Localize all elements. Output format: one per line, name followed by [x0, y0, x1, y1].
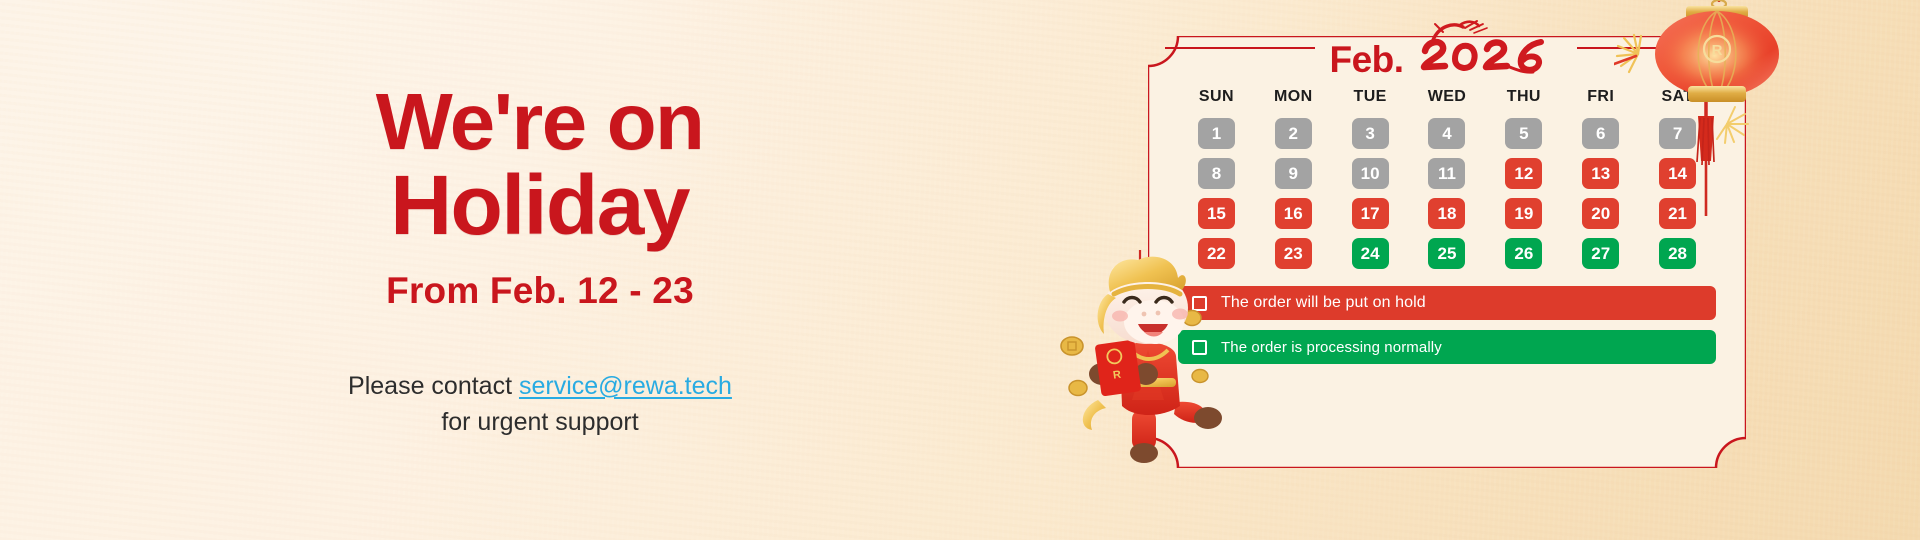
weekday-fri: FRI — [1562, 88, 1639, 106]
calendar-day-11: 11 — [1428, 158, 1465, 189]
calendar-legend: The order will be put on holdThe order i… — [1178, 286, 1716, 374]
legend-item-green: The order is processing normally — [1178, 330, 1716, 364]
calendar-day-27: 27 — [1582, 238, 1619, 269]
calendar-title: Feb. — [1329, 18, 1562, 78]
calendar-day-28: 28 — [1659, 238, 1696, 269]
contact-suffix: for urgent support — [441, 408, 638, 436]
calendar-day-16: 16 — [1275, 198, 1312, 229]
contact-note: Please contact service@rewa.tech for urg… — [348, 368, 732, 441]
calendar-day-7: 7 — [1659, 118, 1696, 149]
calendar-day-3: 3 — [1352, 118, 1389, 149]
calendar-day-6: 6 — [1582, 118, 1619, 149]
legend-label: The order is processing normally — [1221, 339, 1442, 356]
weekday-sat: SAT — [1639, 88, 1716, 106]
calendar-day-12: 12 — [1505, 158, 1542, 189]
weekday-tue: TUE — [1332, 88, 1409, 106]
calendar-day-5: 5 — [1505, 118, 1542, 149]
headline-line-1: We're on — [376, 84, 704, 160]
headline-line-2: Holiday — [376, 166, 704, 246]
title-rule-right — [1577, 47, 1727, 49]
calendar-day-2: 2 — [1275, 118, 1312, 149]
weekday-thu: THU — [1485, 88, 1562, 106]
weekday-wed: WED — [1409, 88, 1486, 106]
calendar-day-20: 20 — [1582, 198, 1619, 229]
calendar-day-9: 9 — [1275, 158, 1312, 189]
calendar-day-21: 21 — [1659, 198, 1696, 229]
calendar-day-10: 10 — [1352, 158, 1389, 189]
calendar-day-15: 15 — [1198, 198, 1235, 229]
red-envelope: R — [1095, 339, 1142, 396]
calendar-year-script — [1413, 18, 1563, 78]
calendar-title-row: Feb. — [1110, 18, 1782, 78]
calendar-day-13: 13 — [1582, 158, 1619, 189]
legend-checkbox-icon — [1192, 296, 1207, 311]
legend-item-red: The order will be put on hold — [1178, 286, 1716, 320]
weekday-sun: SUN — [1178, 88, 1255, 106]
page-title: We're on Holiday — [376, 84, 704, 246]
calendar-day-26: 26 — [1505, 238, 1542, 269]
calendar-month-label: Feb. — [1329, 41, 1403, 78]
calendar-day-25: 25 — [1428, 238, 1465, 269]
support-email-link[interactable]: service@rewa.tech — [519, 372, 732, 400]
title-rule-left — [1165, 47, 1315, 49]
calendar-day-17: 17 — [1352, 198, 1389, 229]
calendar-day-19: 19 — [1505, 198, 1542, 229]
calendar-day-1: 1 — [1198, 118, 1235, 149]
calendar-day-18: 18 — [1428, 198, 1465, 229]
contact-prefix: Please contact — [348, 372, 519, 400]
holiday-calendar: Feb. — [1148, 36, 1746, 468]
calendar-day-14: 14 — [1659, 158, 1696, 189]
calendar-day-22: 22 — [1198, 238, 1235, 269]
calendar-day-24: 24 — [1352, 238, 1389, 269]
calendar-date-grid: 1234567891011121314151617181920212223242… — [1178, 118, 1716, 269]
calendar-day-23: 23 — [1275, 238, 1312, 269]
legend-label: The order will be put on hold — [1221, 294, 1426, 312]
weekday-header-row: SUN MON TUE WED THU FRI SAT — [1178, 88, 1716, 106]
calendar-day-8: 8 — [1198, 158, 1235, 189]
weekday-mon: MON — [1255, 88, 1332, 106]
holiday-date-range: From Feb. 12 - 23 — [386, 270, 694, 312]
calendar-day-4: 4 — [1428, 118, 1465, 149]
legend-checkbox-icon — [1192, 340, 1207, 355]
envelope-emblem-letter: R — [1112, 369, 1122, 382]
headline-block: We're on Holiday From Feb. 12 - 23 Pleas… — [0, 0, 1080, 540]
